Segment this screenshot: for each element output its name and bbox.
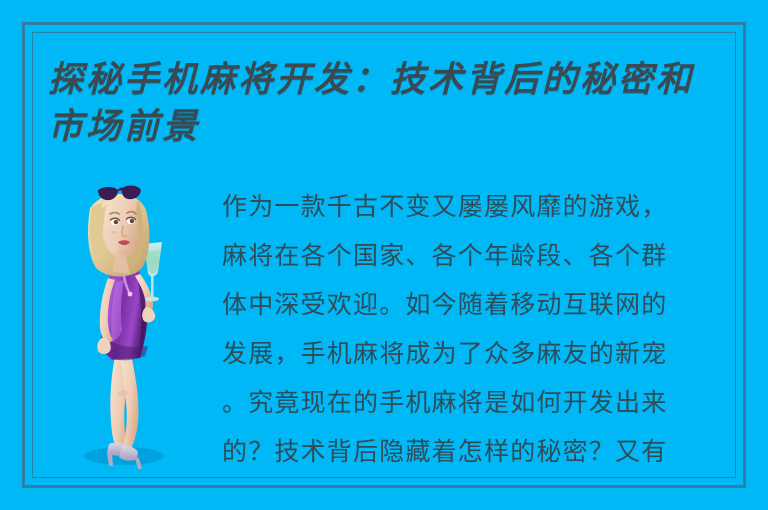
sunglasses-bridge [118, 188, 122, 192]
hand-right [142, 307, 155, 322]
sunglasses-lens-right [122, 186, 141, 200]
article-banner: 探秘手机麻将开发：技术背后的秘密和 市场前景 [0, 0, 768, 510]
title-line-2: 市场前景 [48, 103, 720, 150]
page-title: 探秘手机麻将开发：技术背后的秘密和 市场前景 [48, 56, 720, 150]
body-line-2: 麻将在各个国家、各个年龄段、各个群 [222, 231, 722, 280]
champagne-glass-stem [151, 275, 154, 297]
iris-right [130, 219, 135, 224]
necklace-bead [128, 292, 133, 297]
body-line-5: 。究竟现在的手机麻将是如何开发出来 [222, 378, 722, 427]
body-line-4: 发展，手机麻将成为了众多麻友的新宠 [222, 329, 722, 378]
cartoon-woman-illustration [52, 170, 212, 490]
body-line-6: 的？技术背后隐藏着怎样的秘密？又有 [222, 427, 722, 476]
champagne-glass-base [145, 297, 159, 302]
title-line-1: 探秘手机麻将开发：技术背后的秘密和 [48, 56, 720, 103]
body-line-1: 作为一款千古不变又屡屡风靡的游戏， [222, 182, 722, 231]
body-line-3: 体中深受欢迎。如今随着移动互联网的 [222, 280, 722, 329]
face [102, 194, 141, 256]
iris-left [114, 220, 119, 225]
article-body: 作为一款千古不变又屡屡风靡的游戏， 麻将在各个国家、各个年龄段、各个群 体中深受… [222, 182, 722, 476]
